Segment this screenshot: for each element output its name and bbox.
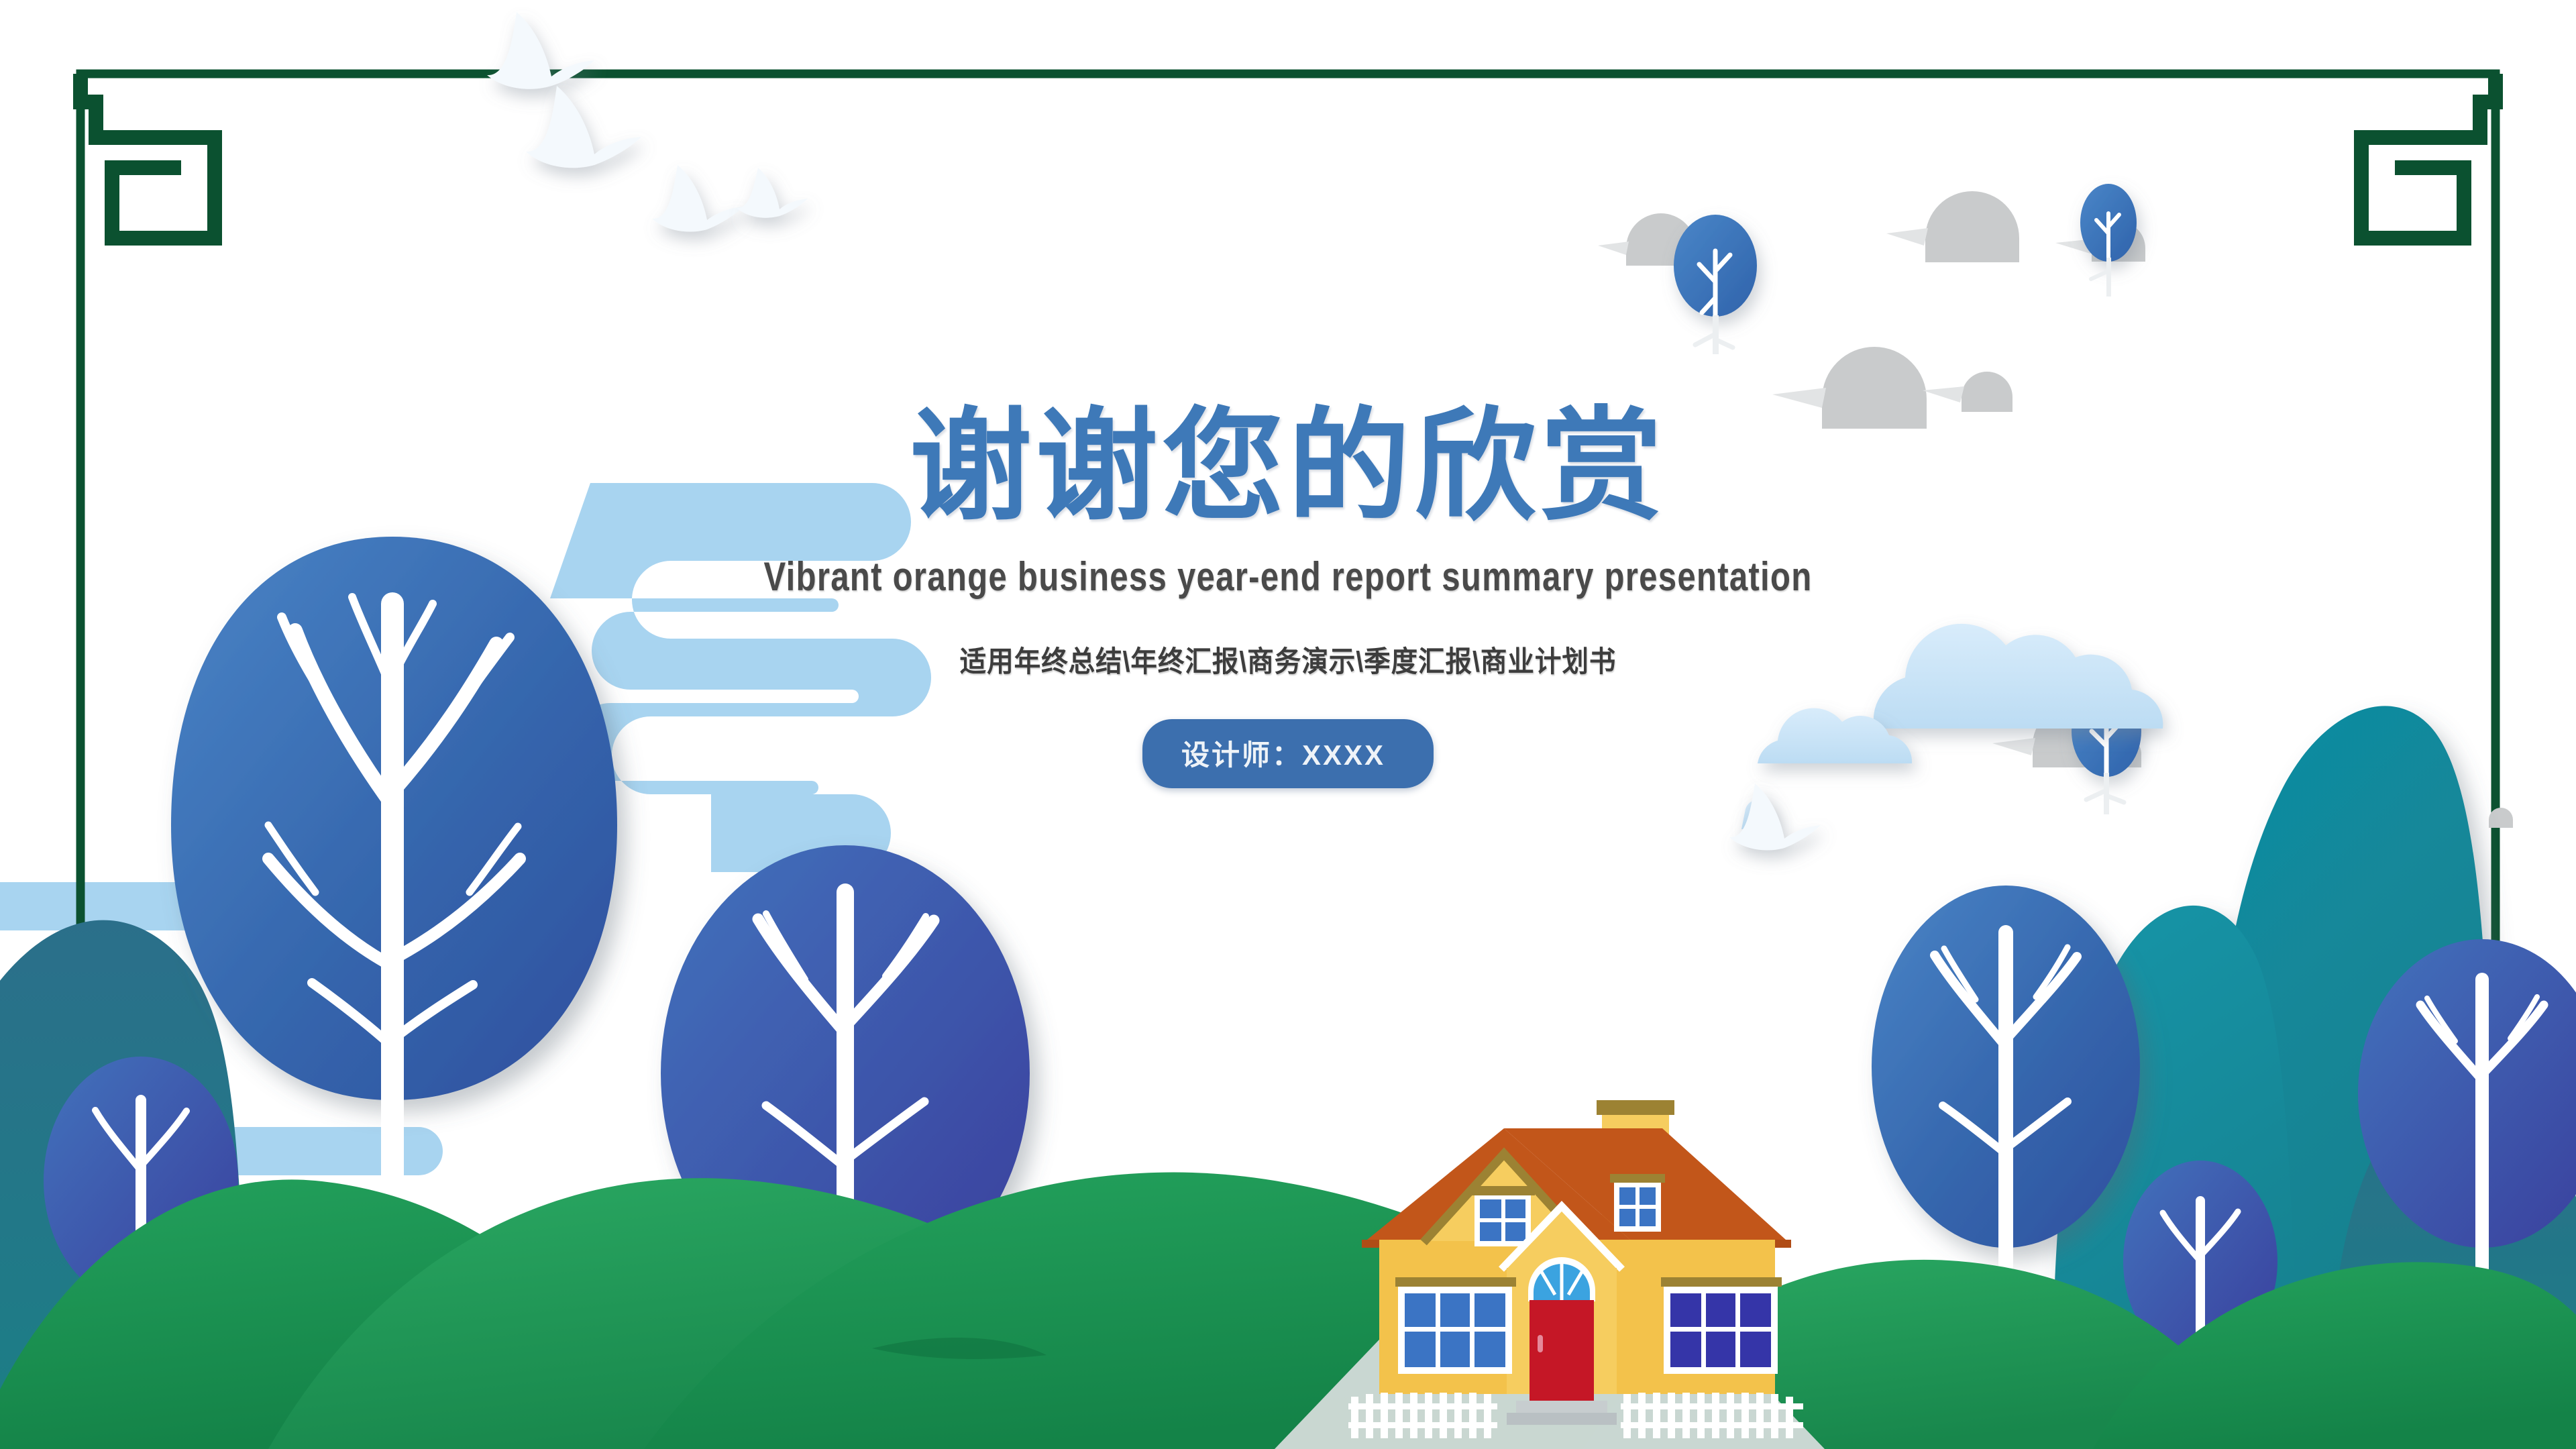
slide-text-block: 谢谢您的欣赏 Vibrant orange business year-end … [0, 402, 2576, 788]
subtitle-english: Vibrant orange business year-end report … [232, 553, 2345, 600]
designer-badge[interactable]: 设计师：XXXX [1142, 719, 1434, 788]
presentation-slide: 谢谢您的欣赏 Vibrant orange business year-end … [0, 0, 2576, 1449]
subtitle-chinese: 适用年终总结\年终汇报\商务演示\季度汇报\商业计划书 [103, 639, 2473, 680]
page-title: 谢谢您的欣赏 [0, 402, 2576, 531]
house-illustration [1348, 1067, 1805, 1442]
